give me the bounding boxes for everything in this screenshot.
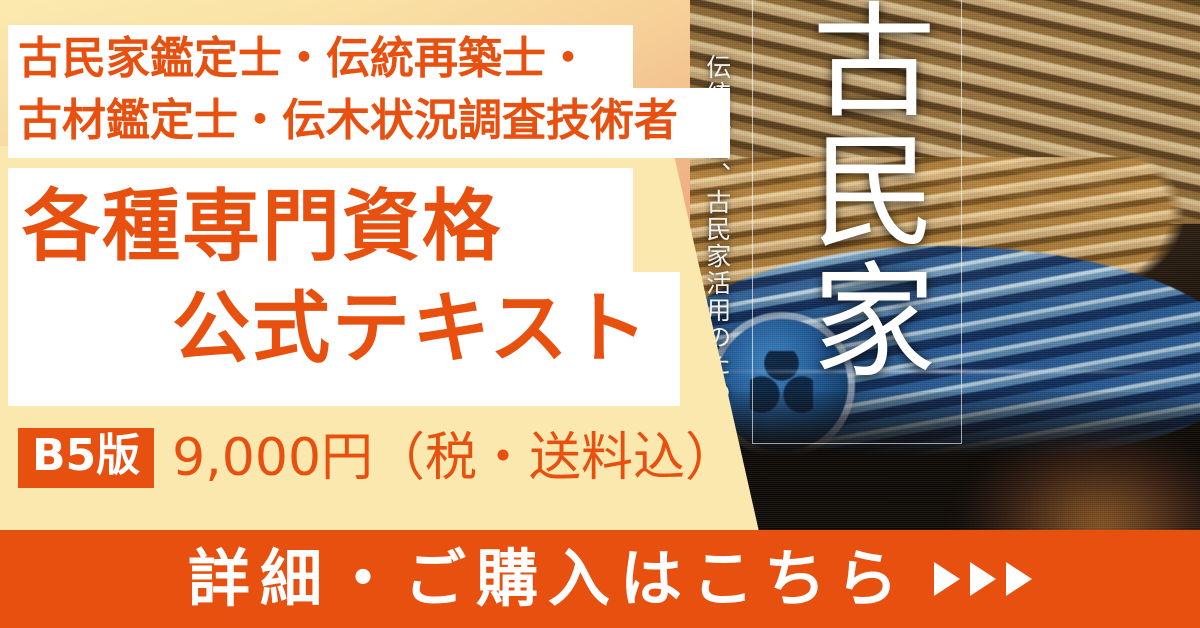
cta-label: 詳細・ご購入はこちら [168,548,908,610]
price-row: B5版 9,000円（税・送料込） [18,428,737,488]
cover-title-vertical: 古民家 [785,0,935,466]
cta-button[interactable]: 詳細・ご購入はこちら [0,530,1200,628]
product-title-line-1: 各種専門資格 [22,182,502,272]
product-title: 各種専門資格 公式テキスト [22,176,722,380]
qualification-headline: 古民家鑑定士・伝統再築士・ 古材鑑定士・伝木状況調査技術者 [18,28,738,152]
product-title-line-2: 公式テキスト [22,278,722,380]
headline-line-2: 古材鑑定士・伝木状況調査技術者 [18,95,678,146]
headline-line-1: 古民家鑑定士・伝統再築士・ [18,33,590,84]
cta-arrows [934,562,1032,596]
price-amount: 9,000円（税・送料込） [172,432,737,484]
book-cover-image: 古民家 伝統構法、古民家活用のための調査と再生の [690,0,1200,560]
size-badge: B5版 [18,428,154,488]
promo-banner: 古民家 伝統構法、古民家活用のための調査と再生の 古民家鑑定士・伝統再築士・ 古… [0,0,1200,628]
triangle-right-icon [970,562,996,596]
triangle-right-icon [1006,562,1032,596]
triangle-right-icon [934,562,960,596]
